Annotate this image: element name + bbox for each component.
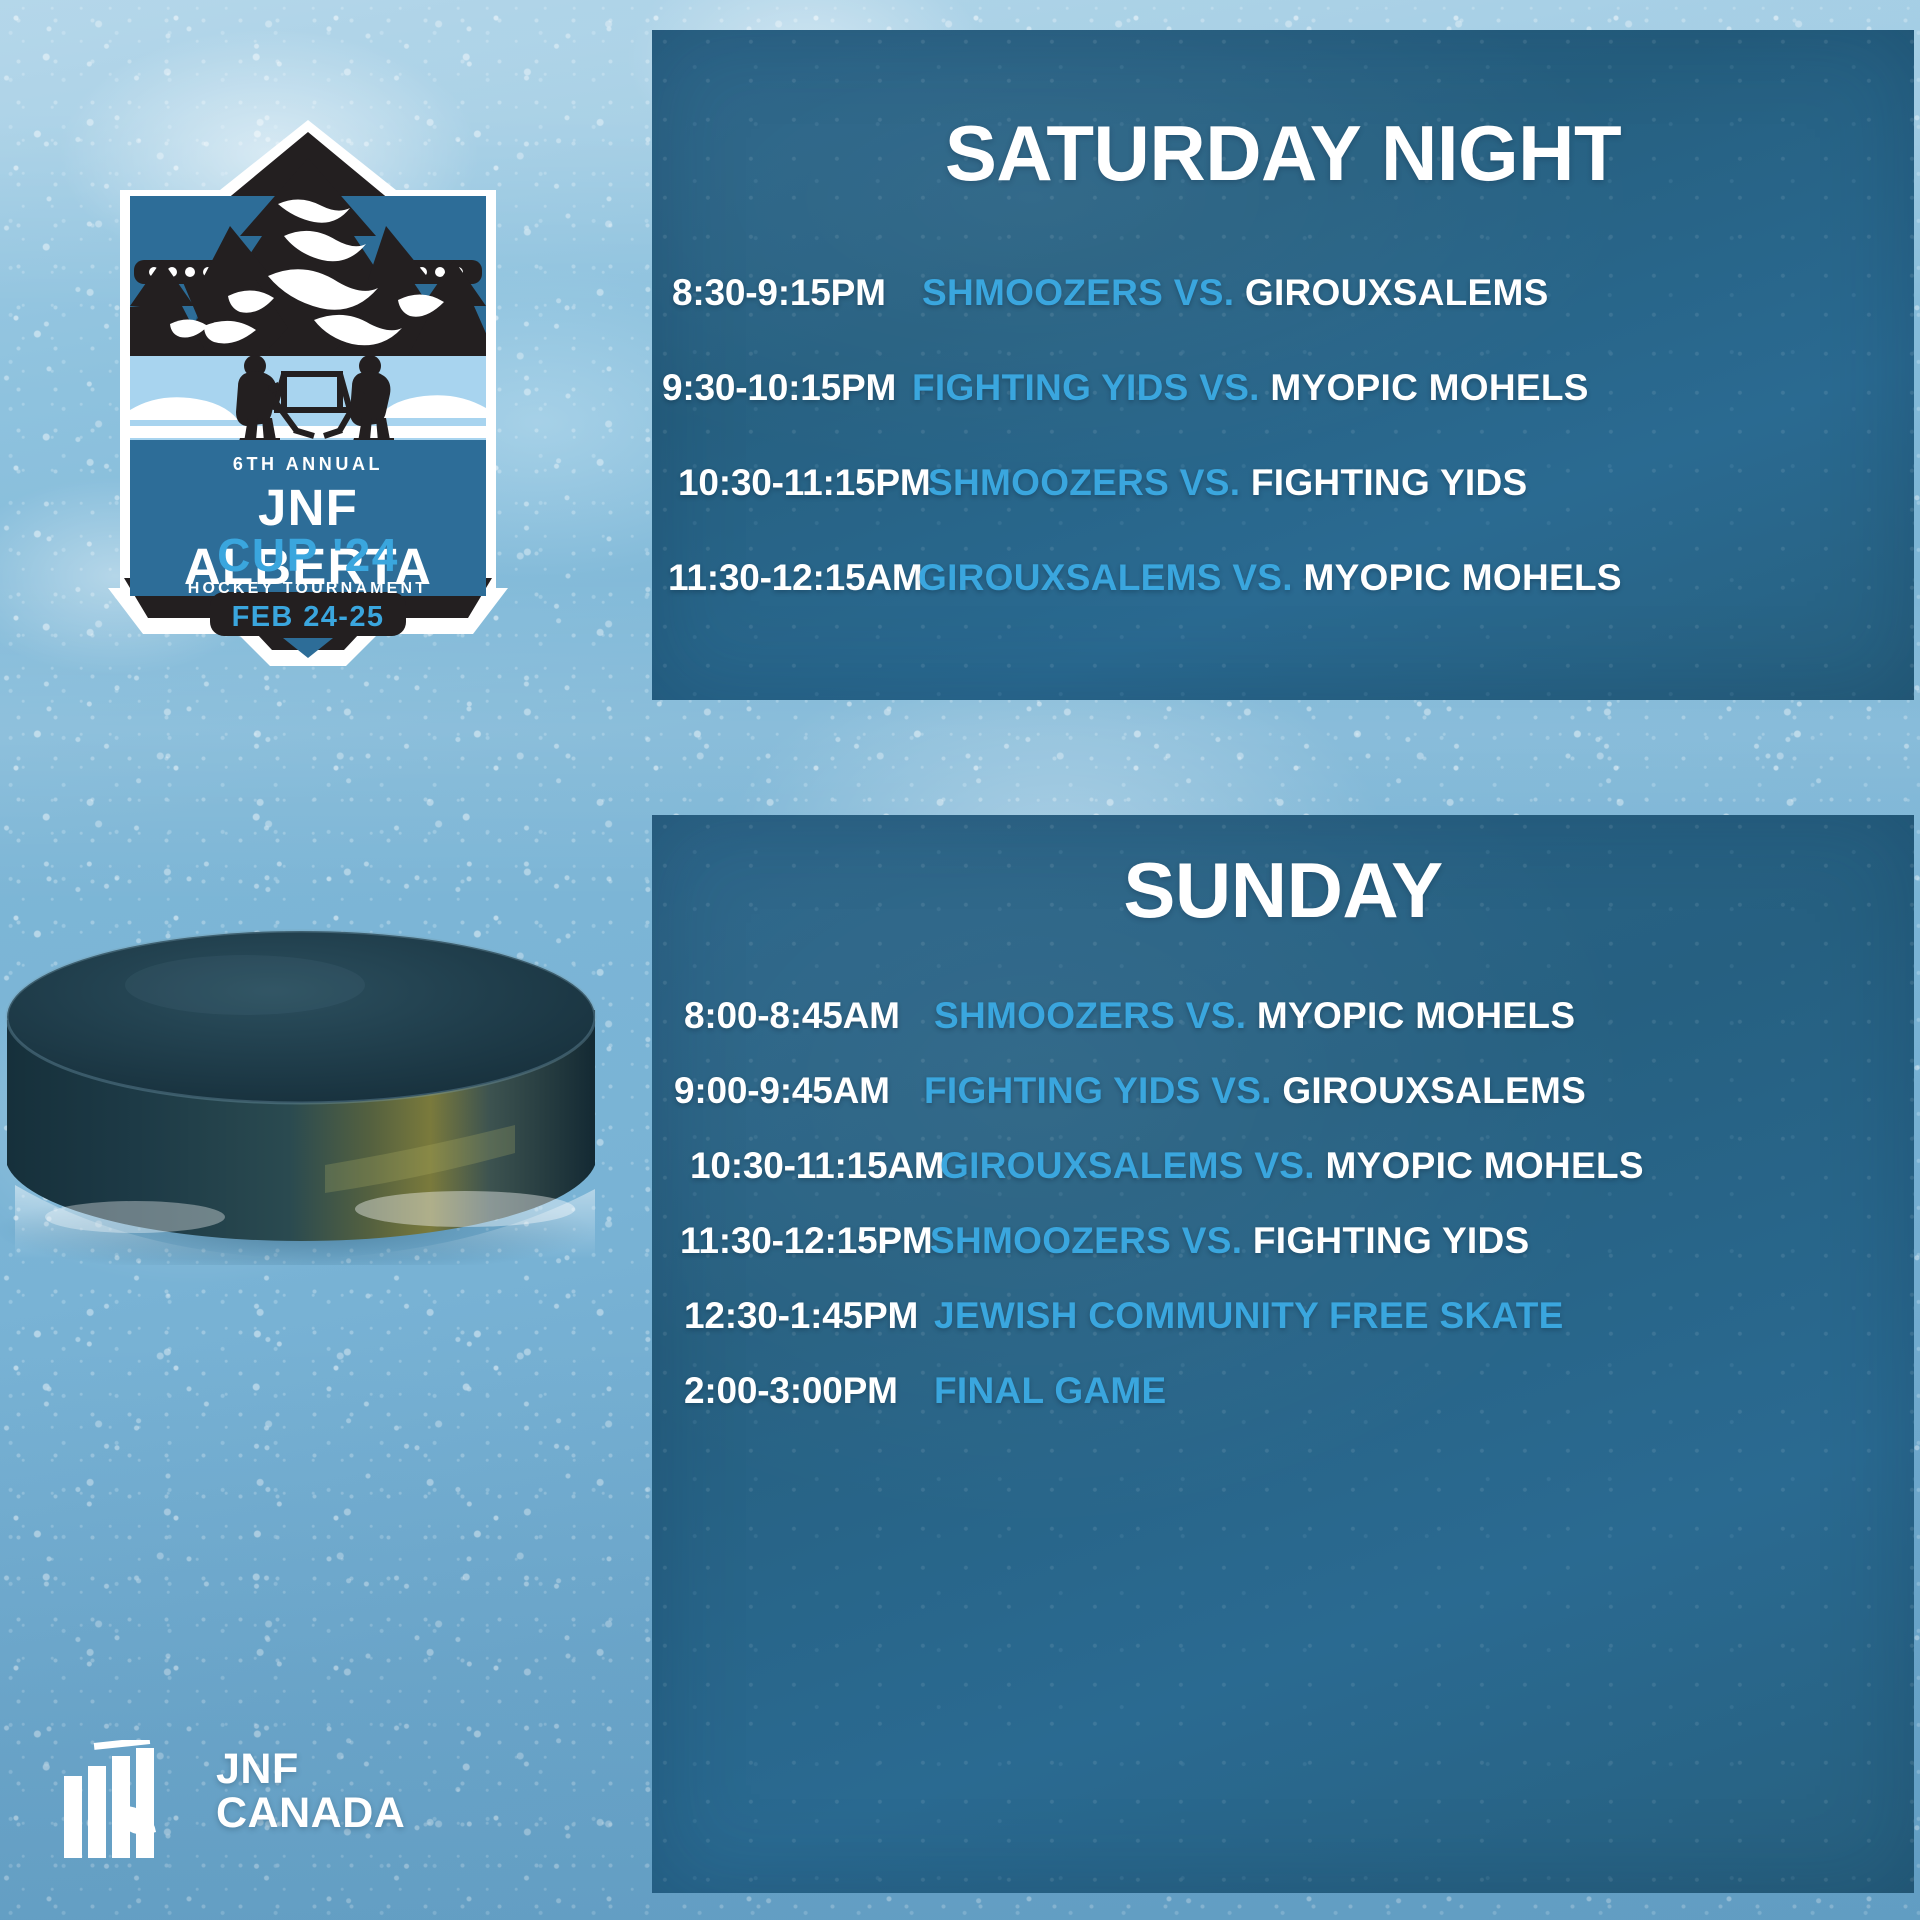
row-team-accent: GIROUXSALEMS VS. — [918, 557, 1293, 598]
jnf-canada-wordmark: JNF CANADA — [216, 1748, 405, 1836]
row-time: 2:00-3:00PM — [684, 1372, 934, 1409]
row-team-accent: FIGHTING YIDS VS. — [912, 367, 1260, 408]
row-team-accent: GIROUXSALEMS VS. — [940, 1145, 1315, 1186]
crest-annual-label: 6TH ANNUAL — [130, 454, 486, 475]
row-matchup: GIROUXSALEMS VS. MYOPIC MOHELS — [940, 1147, 1644, 1184]
schedule-row: 11:30-12:15AM GIROUXSALEMS VS. MYOPIC MO… — [648, 559, 1914, 596]
panel-title-sunday: SUNDAY — [652, 815, 1914, 929]
row-matchup: GIROUXSALEMS VS. MYOPIC MOHELS — [918, 559, 1622, 596]
row-matchup: SHMOOZERS VS. FIGHTING YIDS — [930, 1222, 1530, 1259]
row-team-accent: SHMOOZERS VS. — [930, 1220, 1242, 1261]
schedule-row: 11:30-12:15PM SHMOOZERS VS. FIGHTING YID… — [648, 1222, 1914, 1259]
row-matchup: JEWISH COMMUNITY FREE SKATE — [934, 1297, 1564, 1334]
row-team-plain: FIGHTING YIDS — [1251, 462, 1528, 503]
schedule-row: 8:00-8:45AM SHMOOZERS VS. MYOPIC MOHELS — [652, 997, 1914, 1034]
row-team-plain: FIGHTING YIDS — [1253, 1220, 1530, 1261]
row-team-plain: MYOPIC MOHELS — [1257, 995, 1575, 1036]
schedule-rows-saturday: 8:30-9:15PM SHMOOZERS VS. GIROUXSALEMS 9… — [652, 274, 1914, 596]
row-time: 8:30-9:15PM — [672, 274, 922, 311]
row-matchup: FIGHTING YIDS VS. GIROUXSALEMS — [924, 1072, 1586, 1109]
jnf-logo-line1: JNF — [216, 1748, 405, 1792]
jnf-canada-logo-icon — [58, 1740, 208, 1880]
schedule-row: 12:30-1:45PM JEWISH COMMUNITY FREE SKATE — [652, 1297, 1914, 1334]
row-matchup: SHMOOZERS VS. MYOPIC MOHELS — [934, 997, 1575, 1034]
crest-title-line2: CUP '24 — [130, 528, 486, 582]
schedule-row: 9:00-9:45AM FIGHTING YIDS VS. GIROUXSALE… — [642, 1072, 1914, 1109]
row-team-plain: MYOPIC MOHELS — [1270, 367, 1588, 408]
row-team-plain: GIROUXSALEMS — [1245, 272, 1549, 313]
row-matchup: SHMOOZERS VS. GIROUXSALEMS — [922, 274, 1549, 311]
schedule-row: 9:30-10:15PM FIGHTING YIDS VS. MYOPIC MO… — [642, 369, 1914, 406]
row-team-accent: SHMOOZERS VS. — [934, 995, 1246, 1036]
row-matchup: SHMOOZERS VS. FIGHTING YIDS — [928, 464, 1528, 501]
tournament-crest: 6TH ANNUAL JNF ALBERTA CUP '24 HOCKEY TO… — [78, 118, 538, 678]
jnf-canada-logo: JNF CANADA — [58, 1740, 388, 1880]
jnf-logo-line2: CANADA — [216, 1792, 405, 1836]
row-team-plain: GIROUXSALEMS — [1282, 1070, 1586, 1111]
row-time: 12:30-1:45PM — [684, 1297, 934, 1334]
row-team-plain: MYOPIC MOHELS — [1325, 1145, 1643, 1186]
row-team-accent: FIGHTING YIDS VS. — [924, 1070, 1272, 1111]
hockey-puck-photo — [0, 865, 605, 1265]
schedule-panel-sunday: SUNDAY 8:00-8:45AM SHMOOZERS VS. MYOPIC … — [652, 815, 1914, 1893]
row-team-accent: SHMOOZERS VS. — [922, 272, 1234, 313]
crest-date-banner: FEB 24-25 — [210, 601, 406, 634]
row-time: 9:30-10:15PM — [662, 369, 912, 406]
row-team-accent: SHMOOZERS VS. — [928, 462, 1240, 503]
row-time: 10:30-11:15PM — [678, 464, 928, 501]
row-time: 8:00-8:45AM — [684, 997, 934, 1034]
schedule-row: 10:30-11:15PM SHMOOZERS VS. FIGHTING YID… — [658, 464, 1914, 501]
row-team-accent: FINAL GAME — [934, 1370, 1167, 1411]
row-team-accent: JEWISH COMMUNITY FREE SKATE — [934, 1295, 1564, 1336]
row-team-plain: MYOPIC MOHELS — [1303, 557, 1621, 598]
row-matchup: FINAL GAME — [934, 1372, 1167, 1409]
panel-title-saturday: SATURDAY NIGHT — [652, 30, 1914, 192]
schedule-row: 8:30-9:15PM SHMOOZERS VS. GIROUXSALEMS — [652, 274, 1914, 311]
schedule-rows-sunday: 8:00-8:45AM SHMOOZERS VS. MYOPIC MOHELS … — [652, 997, 1914, 1409]
schedule-panel-saturday: SATURDAY NIGHT 8:30-9:15PM SHMOOZERS VS.… — [652, 30, 1914, 700]
row-time: 10:30-11:15AM — [690, 1147, 940, 1184]
row-time: 9:00-9:45AM — [674, 1072, 924, 1109]
row-matchup: FIGHTING YIDS VS. MYOPIC MOHELS — [912, 369, 1589, 406]
row-time: 11:30-12:15PM — [680, 1222, 930, 1259]
schedule-row: 10:30-11:15AM GIROUXSALEMS VS. MYOPIC MO… — [658, 1147, 1914, 1184]
row-time: 11:30-12:15AM — [668, 559, 918, 596]
schedule-row: 2:00-3:00PM FINAL GAME — [652, 1372, 1914, 1409]
crest-subtitle: HOCKEY TOURNAMENT — [130, 580, 486, 598]
